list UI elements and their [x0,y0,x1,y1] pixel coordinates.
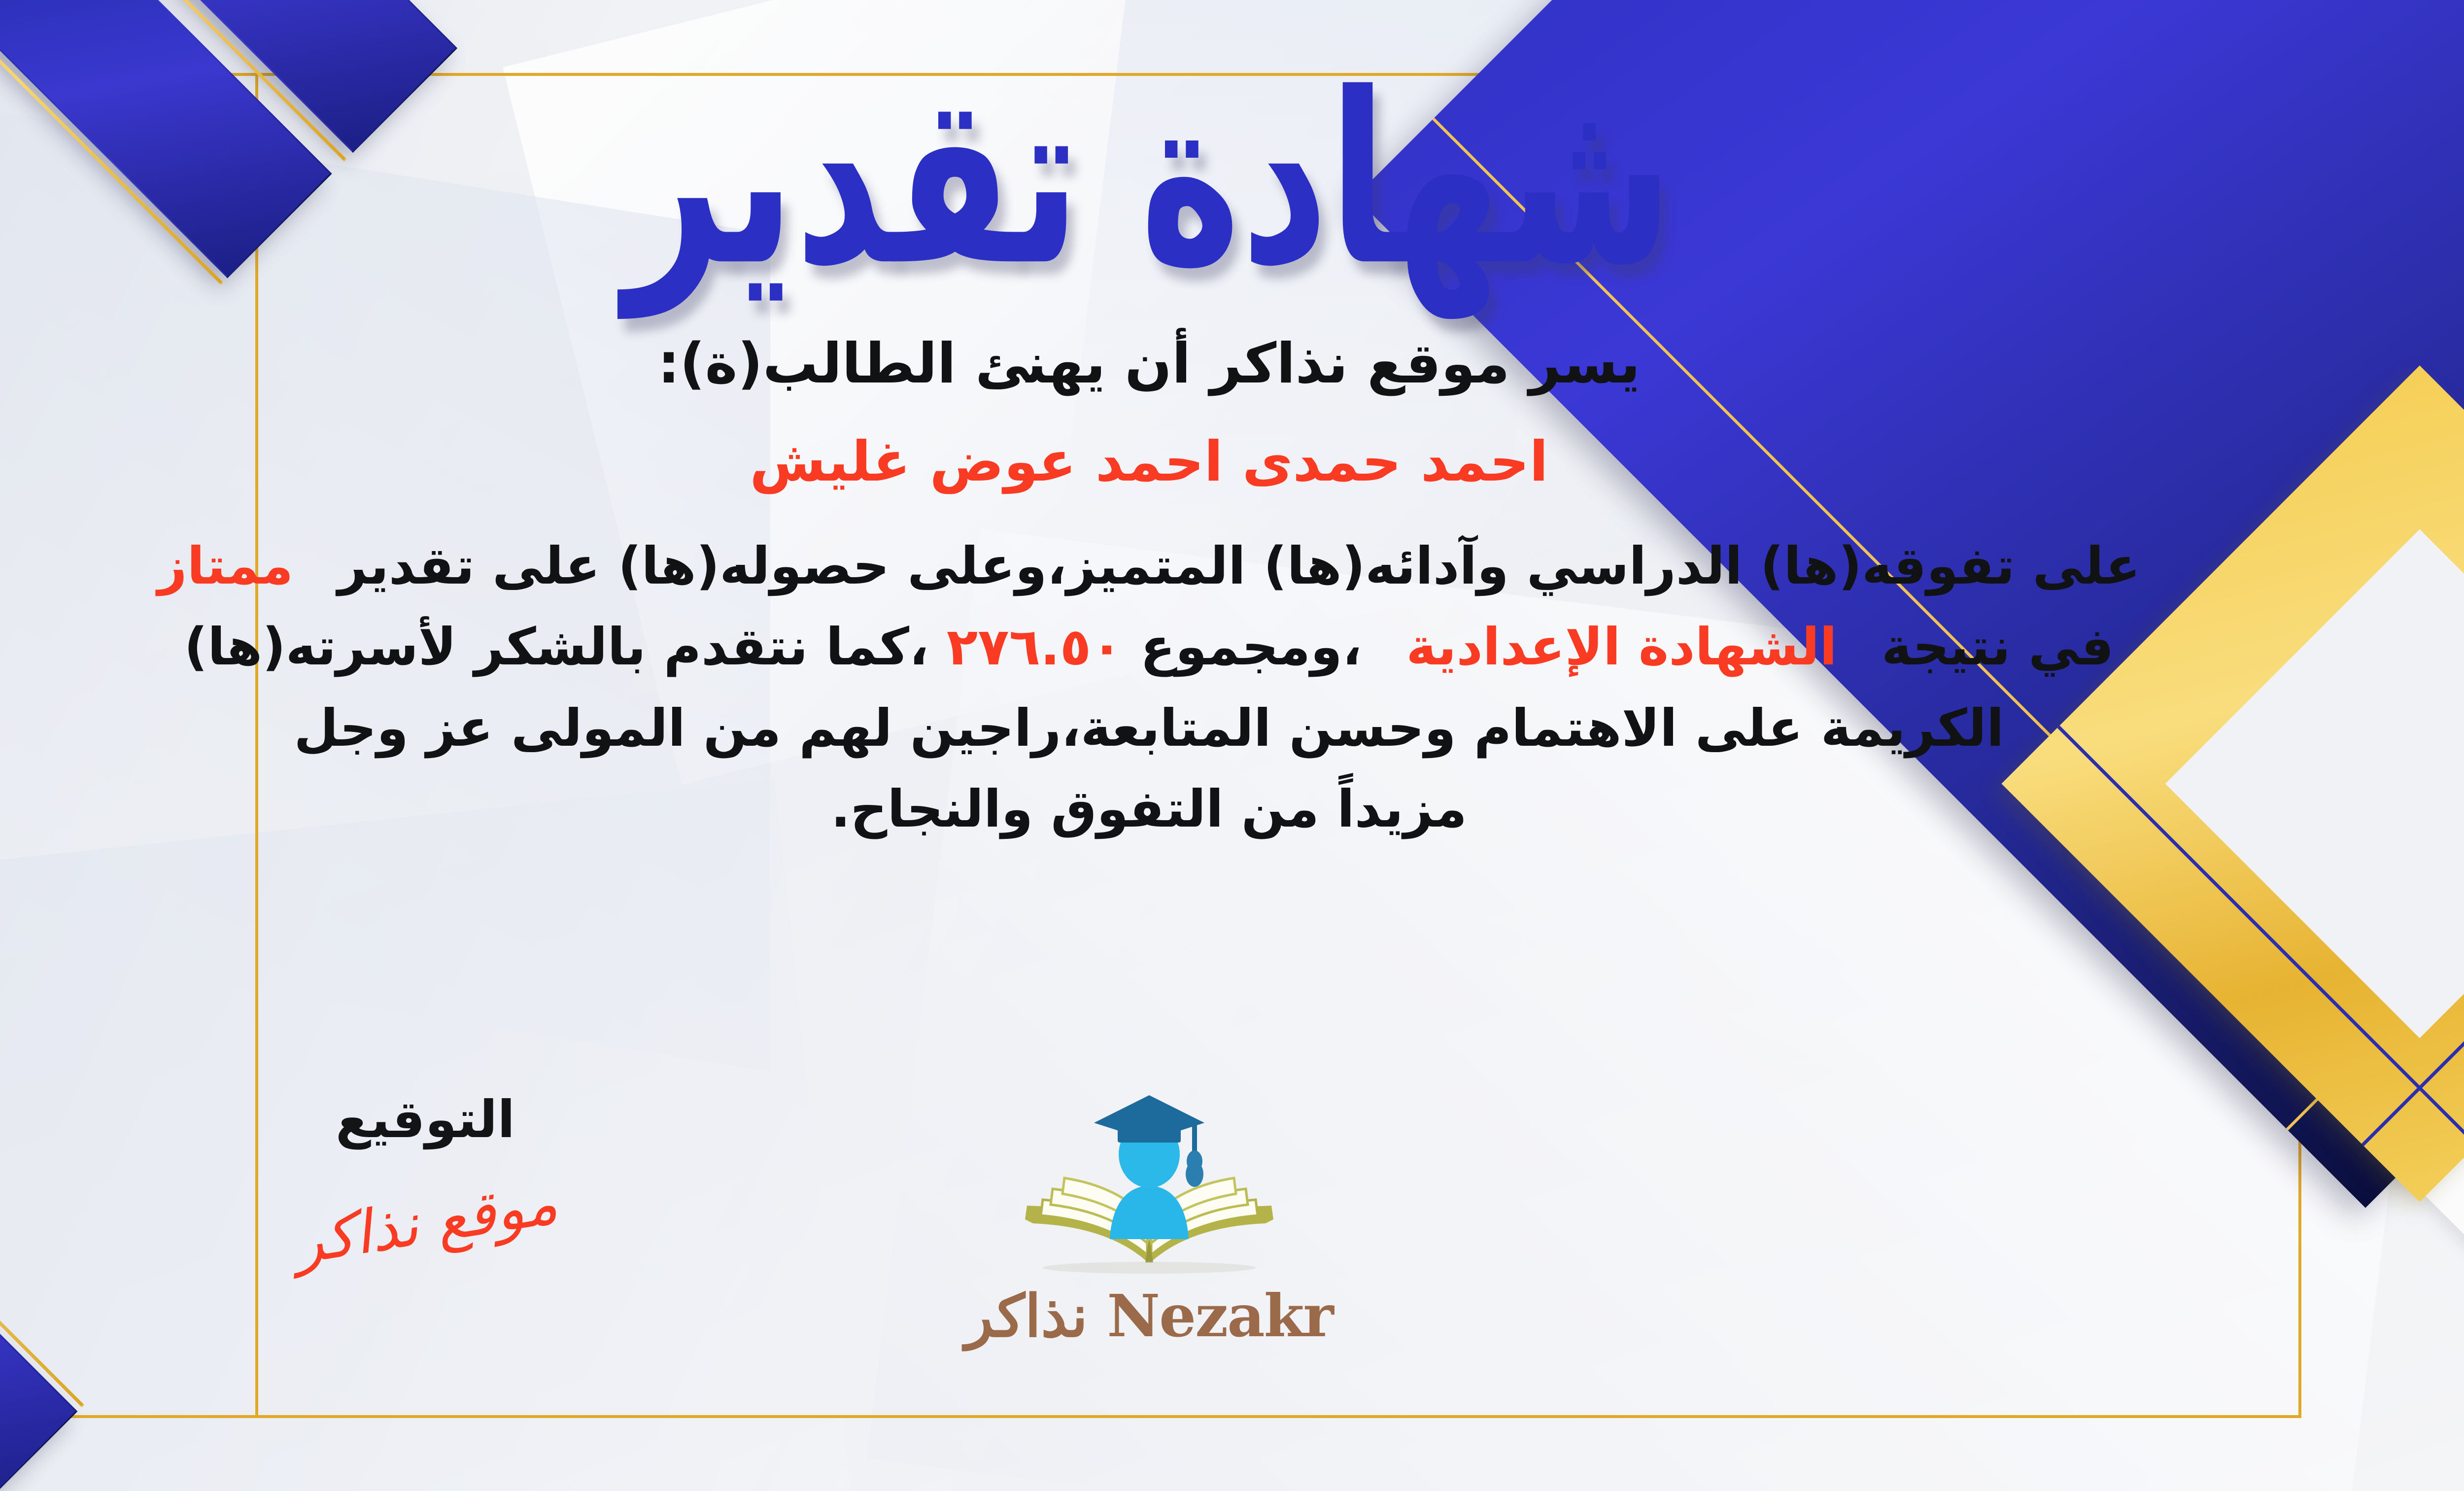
greeting-line: يسر موقع نذاكر أن يهنئ الطالب(ة): [65,320,2233,408]
closing-line: مزيداً من التفوق والنجاح. [65,768,2233,849]
total-score: ٢٧٦.٥٠ [947,617,1123,677]
student-name: احمد حمدى احمد عوض غليش [65,418,2233,506]
signature-label: التوقيع [208,1089,642,1149]
result-prefix: في نتيجة [1882,617,2114,677]
exam-name: الشهادة الإعدادية [1406,617,1837,677]
graduate-book-logo-icon [1011,1089,1287,1277]
certificate-footer: التوقيع موقع نذاكر [0,1089,2464,1395]
signature-block: التوقيع موقع نذاكر [208,1089,642,1257]
brand-logo: Nezakr نذاكر [927,1089,1371,1350]
signature-handwriting: موقع نذاكر [289,1169,562,1278]
achievement-line: على تفوقه(ها) الدراسي وآدائه(ها) المتميز… [65,525,2233,606]
grade-value: ممتاز [158,536,294,596]
thanks-text: ،كما نتقدم بالشكر لأسرته(ها) [184,617,929,677]
family-thanks-line: الكريمة على الاهتمام وحسن المتابعة،راجين… [65,688,2233,768]
brand-logo-text: Nezakr نذاكر [927,1282,1371,1350]
achievement-text: على تفوقه(ها) الدراسي وآدائه(ها) المتميز… [338,536,2140,596]
exam-result-line: في نتيجةالشهادة الإعدادية،ومجموع ٢٧٦.٥٠ … [65,606,2233,687]
certificate-title: شهادة تقدير [625,62,1674,298]
certificate-body: يسر موقع نذاكر أن يهنئ الطالب(ة): احمد ح… [65,320,2233,849]
total-label: ،ومجموع [1140,617,1362,677]
certificate-canvas: شهادة تقدير يسر موقع نذاكر أن يهنئ الطال… [0,0,2464,1491]
